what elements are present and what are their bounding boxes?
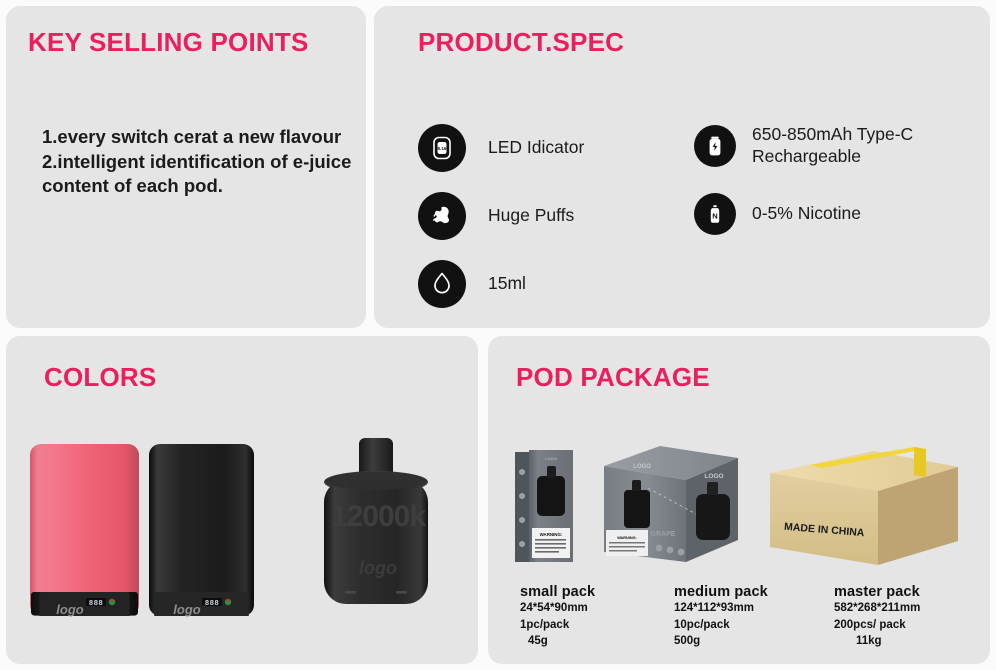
svg-text:LOGO: LOGO	[633, 464, 651, 470]
svg-text:WARNING:: WARNING:	[617, 536, 637, 540]
medium-pack-quantity: 10pc/pack	[674, 617, 768, 634]
medium-pack-box: LOGO LOGO GRAPE WARNING:	[598, 444, 740, 566]
small-pack-name: small pack	[520, 584, 595, 600]
spec-row-huge-puffs: Huge Puffs	[418, 182, 584, 250]
master-pack-weight: 11kg	[834, 633, 920, 650]
svg-text:12000k: 12000k	[331, 500, 426, 533]
svg-text:logo: logo	[56, 602, 83, 617]
device-black: 888 logo	[147, 442, 256, 622]
product-spec-title: PRODUCT.SPEC	[418, 27, 624, 58]
small-pack-box: WARNING: LOGO	[513, 448, 575, 566]
medium-pack-weight: 500g	[674, 633, 768, 650]
spec-row-battery: 650-850mAh Type-C Rechargeable	[694, 112, 913, 180]
svg-text:LOGO: LOGO	[545, 456, 557, 461]
product-spec-sheet: KEY SELLING POINTS 1.every switch cerat …	[0, 0, 996, 670]
key-selling-points-body: 1.every switch cerat a new flavour 2.int…	[42, 125, 352, 199]
spec-label-capacity: 15ml	[488, 273, 526, 295]
medium-pack-name: medium pack	[674, 584, 768, 600]
small-pack-caption: small pack 24*54*90mm 1pc/pack 45g	[520, 584, 595, 650]
spec-label-battery: 650-850mAh Type-C Rechargeable	[752, 124, 913, 168]
spec-label-huge-puffs: Huge Puffs	[488, 205, 574, 227]
master-pack-quantity: 200pcs/ pack	[834, 617, 920, 634]
master-pack-box: MADE IN CHINA	[766, 441, 962, 569]
svg-text:WARNING:: WARNING:	[540, 532, 563, 537]
led-indicator-icon: 5.16	[418, 124, 466, 172]
smoke-puff-icon	[418, 192, 466, 240]
small-pack-dimensions: 24*54*90mm	[520, 600, 595, 617]
spec-row-nicotine: N 0-5% Nicotine	[694, 180, 913, 248]
svg-text:888: 888	[205, 600, 220, 608]
master-pack-caption: master pack 582*268*211mm 200pcs/ pack 1…	[834, 584, 920, 650]
medium-pack-dimensions: 124*112*93mm	[674, 600, 768, 617]
svg-text:logo: logo	[173, 602, 200, 617]
key-selling-points-title: KEY SELLING POINTS	[28, 27, 309, 58]
key-selling-points-panel: KEY SELLING POINTS 1.every switch cerat …	[6, 6, 366, 328]
colors-title: COLORS	[44, 362, 156, 393]
svg-text:LOGO: LOGO	[704, 473, 723, 480]
spec-label-nicotine: 0-5% Nicotine	[752, 203, 861, 225]
medium-pack-caption: medium pack 124*112*93mm 10pc/pack 500g	[674, 584, 768, 650]
svg-text:5.16: 5.16	[438, 146, 447, 151]
svg-text:N: N	[712, 211, 717, 220]
master-pack-dimensions: 582*268*211mm	[834, 600, 920, 617]
colors-panel: COLORS	[6, 336, 478, 664]
small-pack-weight: 45g	[520, 633, 595, 650]
small-pack-quantity: 1pc/pack	[520, 617, 595, 634]
spec-row-capacity: 15ml	[418, 250, 584, 318]
nicotine-bottle-icon: N	[694, 193, 736, 235]
pod-package-title: POD PACKAGE	[516, 362, 710, 393]
master-pack-name: master pack	[834, 584, 920, 600]
svg-text:logo: logo	[359, 558, 397, 578]
spec-label-led-indicator: LED Idicator	[488, 137, 584, 159]
device-pink: 888 logo	[28, 442, 141, 622]
product-spec-panel: PRODUCT.SPEC 5.16 LED Idicator	[374, 6, 990, 328]
svg-text:888: 888	[89, 600, 104, 608]
spec-column-left: 5.16 LED Idicator Huge Puffs	[418, 114, 584, 318]
spec-column-right: 650-850mAh Type-C Rechargeable N 0-5% Ni…	[694, 112, 913, 248]
spec-row-led-indicator: 5.16 LED Idicator	[418, 114, 584, 182]
water-droplet-icon	[418, 260, 466, 308]
svg-text:GRAPE: GRAPE	[651, 531, 676, 538]
pod-package-panel: POD PACKAGE WARNING:	[488, 336, 990, 664]
device-pod: 12000k logo	[312, 434, 442, 624]
battery-charging-icon	[694, 125, 736, 167]
